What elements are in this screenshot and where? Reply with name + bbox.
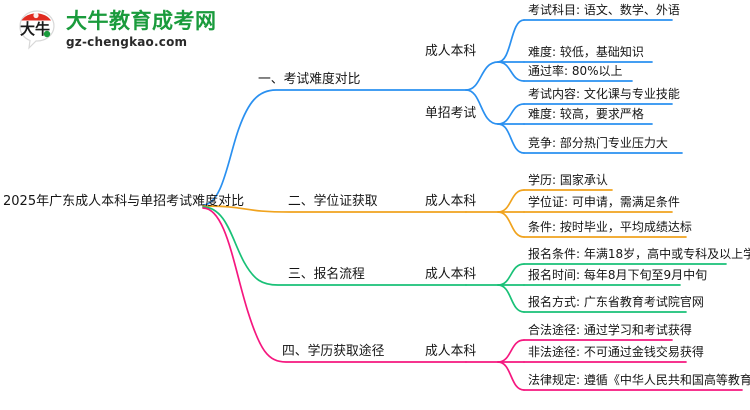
group-node-4-1[interactable]: 成人本科 (425, 344, 476, 359)
branch-node-4[interactable]: 四、学历获取途径 (282, 344, 384, 359)
wire-b1g2-leaf1 (498, 104, 524, 124)
leaf-node-4-1-2[interactable]: 非法途径: 不可通过金钱交易获得 (524, 345, 708, 362)
leaf-node-1-2-1[interactable]: 考试内容: 文化课与专业技能 (524, 87, 684, 104)
leaf-node-4-1-1[interactable]: 合法途径: 通过学习和考试获得 (524, 323, 696, 340)
leaf-node-2-1-2[interactable]: 学位证: 可申请，需满足条件 (524, 195, 684, 212)
mindmap-root-node[interactable]: 2025年广东成人本科与单招考试难度对比 (3, 194, 244, 209)
leaf-node-3-1-1[interactable]: 报名条件: 年满18岁，高中或专科及以上学历 (524, 247, 750, 264)
leaf-node-1-2-2[interactable]: 难度: 较高，要求严格 (524, 107, 648, 124)
branch-node-2[interactable]: 二、学位证获取 (288, 194, 378, 209)
wire-b2g1-leaf1 (498, 190, 524, 212)
wire-b1g1-leaf1 (498, 20, 524, 62)
leaf-node-3-1-3[interactable]: 报名方式: 广东省教育考试院官网 (524, 295, 708, 312)
leaf-node-4-1-3[interactable]: 法律规定: 遵循《中华人民共和国高等教育法》 (524, 373, 750, 390)
daniu-speech-bubble-logo-icon: 大牛 (14, 6, 60, 52)
leaf-node-2-1-1[interactable]: 学历: 国家承认 (524, 173, 612, 190)
wire-b2g1-leaf3 (498, 212, 524, 237)
wire-b3g1-leaf3 (498, 285, 524, 312)
leaf-node-1-2-3[interactable]: 竞争: 部分热门专业压力大 (524, 136, 672, 153)
wire-b3g1-leaf1 (498, 264, 524, 285)
site-logo: 大牛 大牛教育成考网 gz-chengkao.com (14, 6, 217, 52)
branch-node-1[interactable]: 一、考试难度对比 (258, 72, 360, 87)
wire-root-branch4 (203, 208, 466, 362)
leaf-node-1-1-1[interactable]: 考试科目: 语文、数学、外语 (524, 3, 684, 20)
group-node-1-1[interactable]: 成人本科 (425, 44, 476, 59)
wire-b1g1-leaf3 (498, 62, 524, 81)
group-node-3-1[interactable]: 成人本科 (425, 267, 476, 282)
leaf-node-1-1-2[interactable]: 难度: 较低，基础知识 (524, 45, 648, 62)
group-node-2-1[interactable]: 成人本科 (425, 194, 476, 209)
group-node-1-2[interactable]: 单招考试 (425, 106, 476, 121)
leaf-node-2-1-3[interactable]: 条件: 按时毕业，平均成绩达标 (524, 220, 696, 237)
leaf-node-3-1-2[interactable]: 报名时间: 每年8月下旬至9月中旬 (524, 268, 711, 285)
logo-subtitle: gz-chengkao.com (66, 36, 217, 48)
leaf-node-1-1-3[interactable]: 通过率: 80%以上 (524, 64, 627, 81)
wire-b4g1-leaf1 (498, 340, 524, 362)
wire-b4g1-leaf3 (498, 362, 524, 390)
wire-b1g2-leaf3 (498, 124, 524, 153)
wire-branch1-group1 (466, 62, 498, 90)
logo-wordmark: 大牛教育成考网 gz-chengkao.com (66, 11, 217, 48)
branch-node-3[interactable]: 三、报名流程 (288, 267, 365, 282)
logo-title: 大牛教育成考网 (66, 11, 217, 32)
